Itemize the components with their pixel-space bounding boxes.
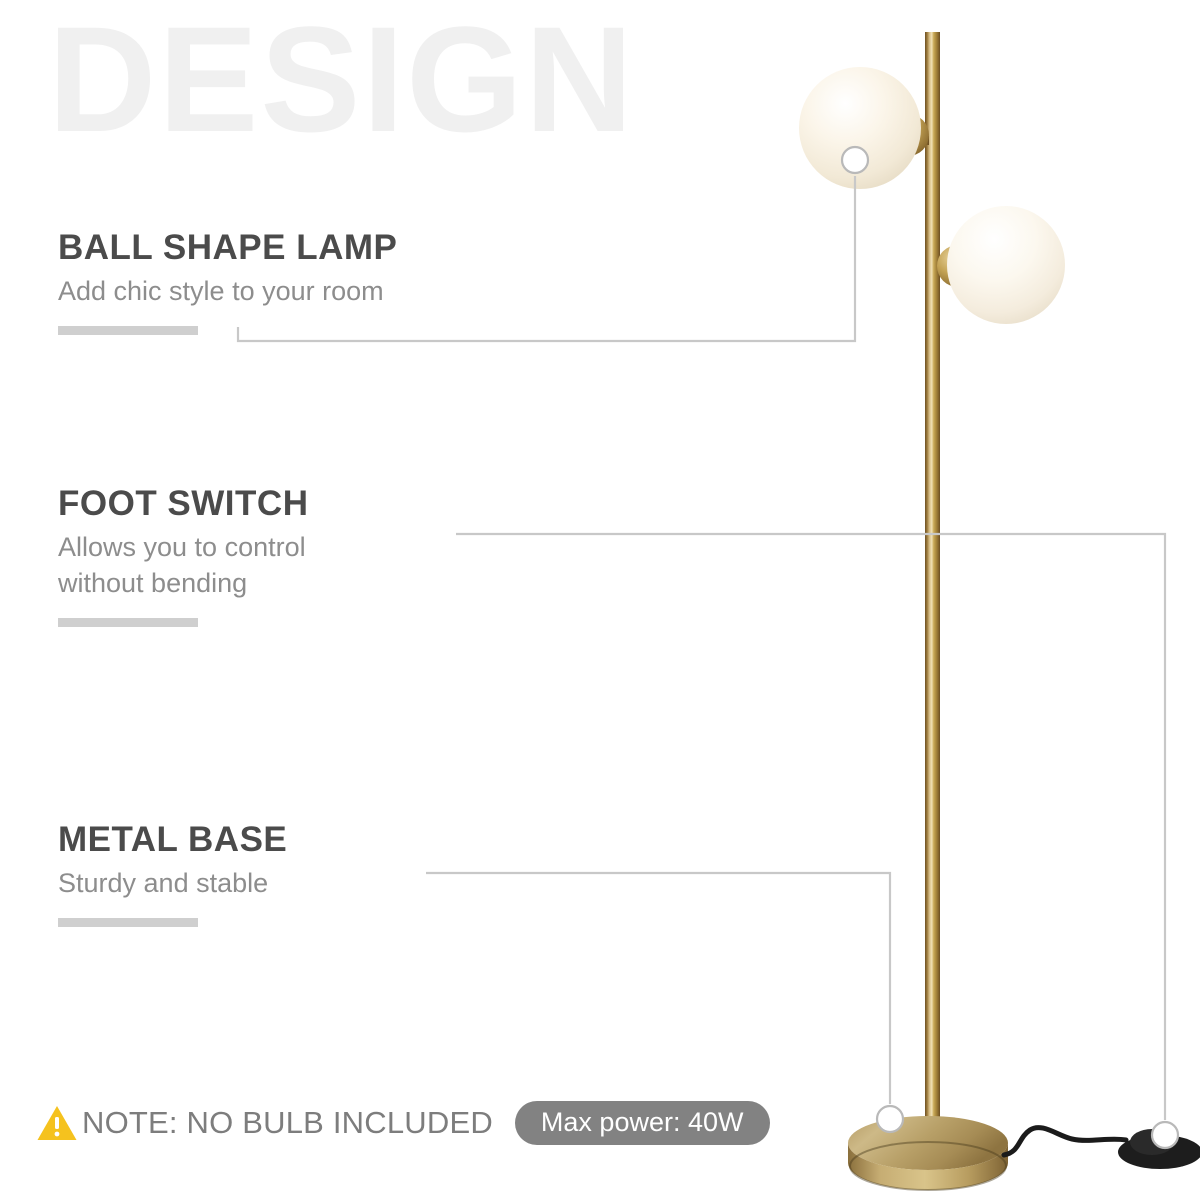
feature-accent-bar [58,326,198,335]
feature-subtitle: Add chic style to your room [58,274,397,310]
max-power-badge: Max power: 40W [515,1101,770,1145]
note-text: NOTE: NO BULB INCLUDED [82,1105,493,1141]
callout-marker-foot-switch [1152,1122,1178,1148]
feature-metal-base: METAL BASE Sturdy and stable [58,820,287,927]
callout-marker-ball-shape-lamp [842,147,868,173]
feature-accent-bar [58,918,198,927]
infographic-canvas: DESIGN [0,0,1200,1200]
feature-subtitle: Sturdy and stable [58,866,287,902]
feature-accent-bar [58,618,198,627]
callout-marker-metal-base [877,1106,903,1132]
feature-title: METAL BASE [58,820,287,859]
feature-ball-shape-lamp: BALL SHAPE LAMP Add chic style to your r… [58,228,397,335]
warning-triangle-icon [36,1103,78,1143]
feature-title: FOOT SWITCH [58,484,308,523]
feature-foot-switch: FOOT SWITCH Allows you to controlwithout… [58,484,308,627]
note-row: NOTE: NO BULB INCLUDED Max power: 40W [36,1099,770,1147]
leader-line-foot-switch [456,534,1165,1120]
feature-subtitle: Allows you to controlwithout bending [58,530,308,602]
feature-title: BALL SHAPE LAMP [58,228,397,267]
leader-line-metal-base [426,873,890,1104]
